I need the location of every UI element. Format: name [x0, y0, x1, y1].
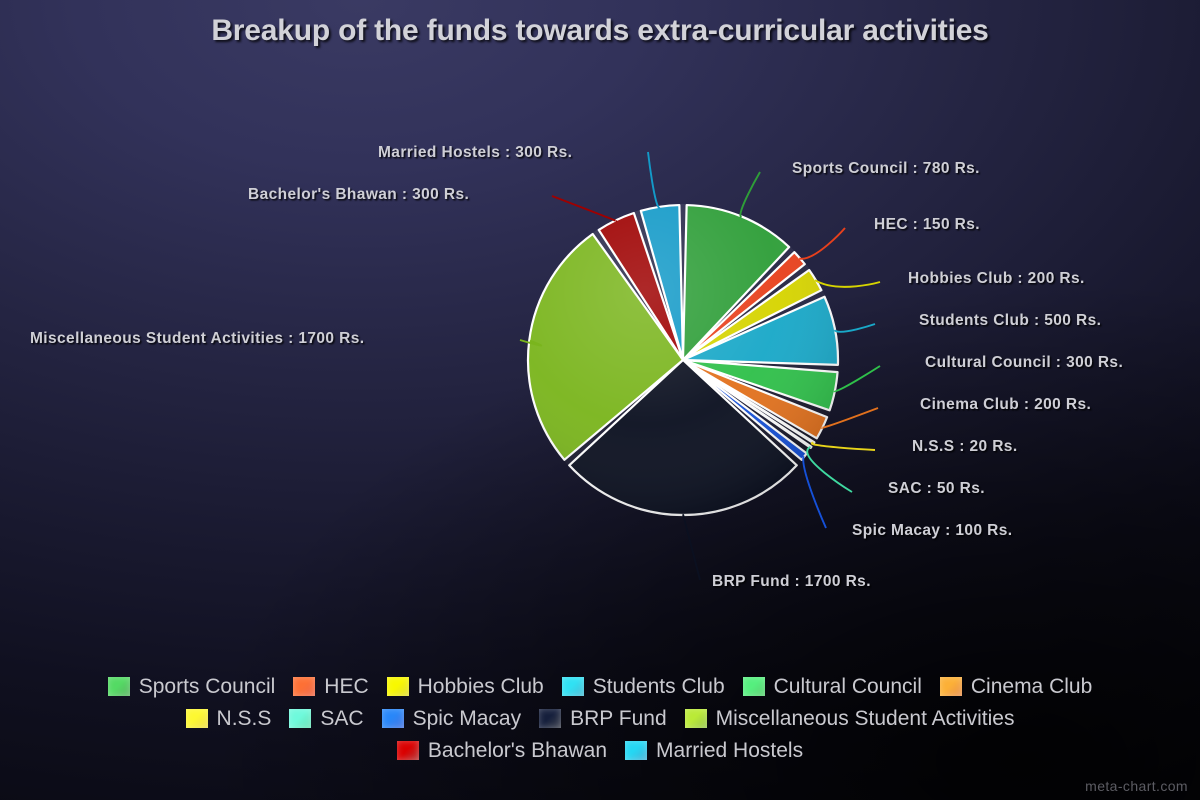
- legend-swatch: [539, 709, 561, 728]
- chart-page: Breakup of the funds towards extra-curri…: [0, 0, 1200, 800]
- leader-line: [683, 514, 700, 580]
- pie-slices: [528, 205, 838, 515]
- legend-item[interactable]: Sports Council: [108, 672, 276, 700]
- leader-line: [812, 442, 875, 450]
- legend-item[interactable]: N.S.S: [186, 704, 272, 732]
- leader-line: [834, 366, 880, 391]
- legend-item[interactable]: Bachelor's Bhawan: [397, 736, 607, 764]
- legend-swatch: [186, 709, 208, 728]
- legend-label: N.S.S: [217, 708, 272, 729]
- legend-label: Cinema Club: [971, 676, 1092, 697]
- slice-callout-label: Students Club : 500 Rs.: [919, 312, 1101, 330]
- legend-label: Cultural Council: [774, 676, 922, 697]
- legend-swatch: [625, 741, 647, 760]
- legend-label: Hobbies Club: [418, 676, 544, 697]
- watermark: meta-chart.com: [1085, 778, 1188, 794]
- legend-swatch: [743, 677, 765, 696]
- leader-line: [799, 228, 845, 259]
- legend-label: Bachelor's Bhawan: [428, 740, 607, 761]
- slice-callout-label: Hobbies Club : 200 Rs.: [908, 270, 1085, 288]
- legend-label: Miscellaneous Student Activities: [716, 708, 1015, 729]
- leader-line: [815, 280, 880, 287]
- leader-line: [834, 324, 875, 332]
- slice-callout-label: Bachelor's Bhawan : 300 Rs.: [248, 186, 469, 204]
- legend-swatch: [397, 741, 419, 760]
- legend-item[interactable]: BRP Fund: [539, 704, 667, 732]
- legend-swatch: [382, 709, 404, 728]
- leader-line: [552, 196, 616, 221]
- legend-item[interactable]: Married Hostels: [625, 736, 803, 764]
- legend-label: BRP Fund: [570, 708, 667, 729]
- legend-label: Sports Council: [139, 676, 276, 697]
- legend-swatch: [108, 677, 130, 696]
- legend-swatch: [293, 677, 315, 696]
- legend-label: Spic Macay: [413, 708, 522, 729]
- legend-swatch: [562, 677, 584, 696]
- pie-chart-stage: Sports Council : 780 Rs.HEC : 150 Rs.Hob…: [0, 0, 1200, 660]
- legend-item[interactable]: SAC: [289, 704, 363, 732]
- slice-callout-label: Spic Macay : 100 Rs.: [852, 522, 1013, 540]
- slice-callout-label: Cultural Council : 300 Rs.: [925, 354, 1123, 372]
- legend-item[interactable]: Spic Macay: [382, 704, 522, 732]
- legend-swatch: [289, 709, 311, 728]
- legend-item[interactable]: Cultural Council: [743, 672, 922, 700]
- slice-callout-label: N.S.S : 20 Rs.: [912, 438, 1018, 456]
- slice-callout-label: SAC : 50 Rs.: [888, 480, 985, 498]
- leader-line: [648, 152, 660, 208]
- legend-label: Married Hostels: [656, 740, 803, 761]
- legend-swatch: [940, 677, 962, 696]
- legend-item[interactable]: Students Club: [562, 672, 725, 700]
- slice-callout-label: HEC : 150 Rs.: [874, 216, 980, 234]
- legend-label: SAC: [320, 708, 363, 729]
- slice-callout-label: Miscellaneous Student Activities : 1700 …: [30, 330, 364, 348]
- leader-line: [807, 447, 852, 492]
- legend-swatch: [387, 677, 409, 696]
- chart-legend: Sports CouncilHECHobbies ClubStudents Cl…: [70, 672, 1130, 764]
- legend-item[interactable]: HEC: [293, 672, 368, 700]
- slice-callout-label: Cinema Club : 200 Rs.: [920, 396, 1091, 414]
- legend-item[interactable]: Miscellaneous Student Activities: [685, 704, 1015, 732]
- legend-item[interactable]: Cinema Club: [940, 672, 1092, 700]
- slice-callout-label: Sports Council : 780 Rs.: [792, 160, 980, 178]
- slice-callout-label: BRP Fund : 1700 Rs.: [712, 573, 871, 591]
- legend-label: Students Club: [593, 676, 725, 697]
- legend-swatch: [685, 709, 707, 728]
- legend-item[interactable]: Hobbies Club: [387, 672, 544, 700]
- leader-line: [803, 456, 826, 528]
- legend-label: HEC: [324, 676, 368, 697]
- leader-line: [740, 172, 760, 217]
- slice-callout-label: Married Hostels : 300 Rs.: [378, 144, 572, 162]
